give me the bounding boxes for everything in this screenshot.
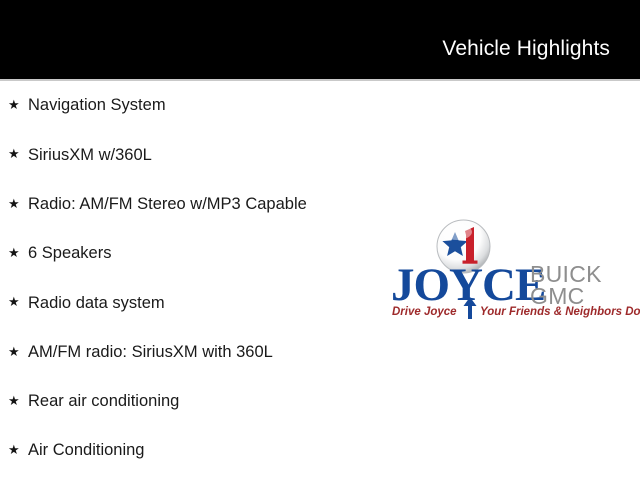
tagline-arrow-icon bbox=[462, 297, 478, 319]
list-item-label: 6 Speakers bbox=[28, 245, 111, 262]
logo-brand-names: BUICK GMC bbox=[530, 264, 602, 307]
star-bullet-icon: ★ bbox=[8, 197, 28, 210]
star-bullet-icon: ★ bbox=[8, 394, 28, 407]
star-bullet-icon: ★ bbox=[8, 443, 28, 456]
list-item: ★ Rear air conditioning bbox=[0, 377, 400, 426]
list-item-label: Navigation System bbox=[28, 97, 166, 114]
list-item-label: Radio: AM/FM Stereo w/MP3 Capable bbox=[28, 196, 307, 213]
page-header: Vehicle Highlights bbox=[0, 0, 640, 79]
list-item-label: AM/FM radio: SiriusXM with 360L bbox=[28, 344, 273, 361]
list-item-label: Air Conditioning bbox=[28, 442, 144, 459]
list-item: ★ Navigation System bbox=[0, 81, 400, 130]
list-item: ★ 6 Speakers bbox=[0, 229, 400, 278]
star-bullet-icon: ★ bbox=[8, 295, 28, 308]
list-item: ★ Radio data system bbox=[0, 278, 400, 327]
dealer-logo: JOYCE BUICK GMC Drive Joyce Your Friends… bbox=[388, 219, 620, 329]
logo-brand-gmc: GMC bbox=[530, 286, 602, 307]
list-item: ★ Radio: AM/FM Stereo w/MP3 Capable bbox=[0, 180, 400, 229]
star-bullet-icon: ★ bbox=[8, 147, 28, 160]
list-item: ★ AM/FM radio: SiriusXM with 360L bbox=[0, 327, 400, 376]
list-item: ★ SiriusXM w/360L bbox=[0, 130, 400, 179]
list-item-label: SiriusXM w/360L bbox=[28, 147, 152, 164]
star-bullet-icon: ★ bbox=[8, 246, 28, 259]
star-bullet-icon: ★ bbox=[8, 345, 28, 358]
vehicle-highlights-list: ★ Navigation System ★ SiriusXM w/360L ★ … bbox=[0, 81, 400, 475]
page-title: Vehicle Highlights bbox=[442, 20, 640, 59]
logo-tagline: Drive Joyce Your Friends & Neighbors Do! bbox=[392, 305, 620, 321]
logo-tagline-right: Your Friends & Neighbors Do! bbox=[480, 305, 640, 319]
list-item-label: Rear air conditioning bbox=[28, 393, 179, 410]
list-item: ★ Air Conditioning bbox=[0, 426, 400, 475]
logo-tagline-left: Drive Joyce bbox=[392, 305, 457, 319]
list-item-label: Radio data system bbox=[28, 295, 165, 312]
star-bullet-icon: ★ bbox=[8, 98, 28, 111]
logo-wordmark: JOYCE BUICK GMC bbox=[388, 261, 620, 309]
